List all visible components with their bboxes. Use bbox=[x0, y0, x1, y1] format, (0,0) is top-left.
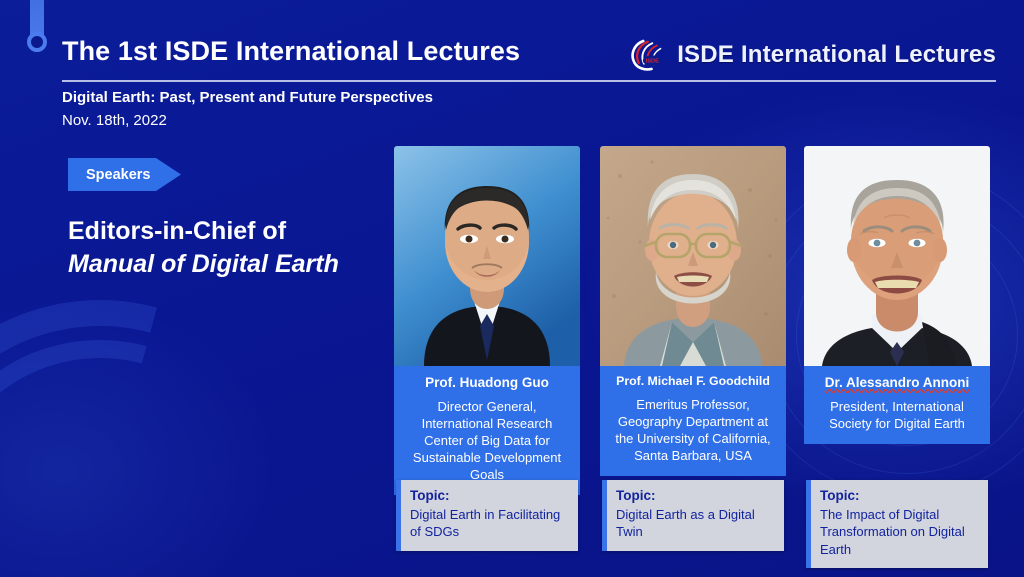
headline-line-1: Editors-in-Chief of bbox=[68, 215, 388, 248]
page-title: The 1st ISDE International Lectures bbox=[62, 36, 520, 67]
topic-label: Topic: bbox=[410, 488, 569, 503]
speaker-affiliation: President, International Society for Dig… bbox=[812, 398, 982, 432]
speaker-photo bbox=[600, 146, 786, 366]
brand-lockup: ISDE ISDE International Lectures bbox=[628, 38, 996, 72]
headline-line-2: Manual of Digital Earth bbox=[68, 248, 388, 281]
headline-block: Editors-in-Chief of Manual of Digital Ea… bbox=[68, 215, 388, 281]
logo-wordmark: ISDE bbox=[646, 59, 659, 65]
brand-title: ISDE International Lectures bbox=[677, 41, 996, 69]
topic-label: Topic: bbox=[820, 488, 979, 503]
speakers-badge: Speakers bbox=[68, 158, 181, 191]
topic-box: Topic: Digital Earth in Facilitating of … bbox=[396, 480, 578, 551]
header-divider bbox=[62, 80, 996, 82]
speakers-badge-label: Speakers bbox=[68, 167, 151, 183]
event-date: Nov. 18th, 2022 bbox=[62, 112, 167, 129]
speaker-card: Prof. Michael F. Goodchild Emeritus Prof… bbox=[600, 146, 786, 476]
header: The 1st ISDE International Lectures ISDE… bbox=[0, 0, 1024, 88]
slide-canvas: The 1st ISDE International Lectures ISDE… bbox=[0, 0, 1024, 577]
speaker-nameplate: Dr. Alessandro Annoni President, Interna… bbox=[804, 366, 990, 444]
topic-text: Digital Earth as a Digital Twin bbox=[616, 506, 775, 541]
speaker-photo bbox=[804, 146, 990, 366]
topic-box: Topic: The Impact of Digital Transformat… bbox=[806, 480, 988, 568]
page-subtitle: Digital Earth: Past, Present and Future … bbox=[62, 89, 433, 106]
topic-box: Topic: Digital Earth as a Digital Twin bbox=[602, 480, 784, 551]
speaker-name: Prof. Huadong Guo bbox=[402, 373, 572, 393]
speaker-affiliation: Emeritus Professor, Geography Department… bbox=[608, 396, 778, 465]
speaker-name: Dr. Alessandro Annoni bbox=[812, 373, 982, 393]
topic-label: Topic: bbox=[616, 488, 775, 503]
speaker-nameplate: Prof. Michael F. Goodchild Emeritus Prof… bbox=[600, 366, 786, 476]
speaker-card: Dr. Alessandro Annoni President, Interna… bbox=[804, 146, 990, 444]
topic-text: The Impact of Digital Transformation on … bbox=[820, 506, 979, 558]
speaker-card: Prof. Huadong Guo Director General, Inte… bbox=[394, 146, 580, 495]
isde-swirl-logo-icon: ISDE bbox=[628, 38, 666, 72]
speaker-name: Prof. Michael F. Goodchild bbox=[608, 373, 778, 391]
speaker-affiliation: Director General, International Research… bbox=[402, 398, 572, 484]
speaker-photo bbox=[394, 146, 580, 366]
topic-text: Digital Earth in Facilitating of SDGs bbox=[410, 506, 569, 541]
speaker-nameplate: Prof. Huadong Guo Director General, Inte… bbox=[394, 366, 580, 495]
